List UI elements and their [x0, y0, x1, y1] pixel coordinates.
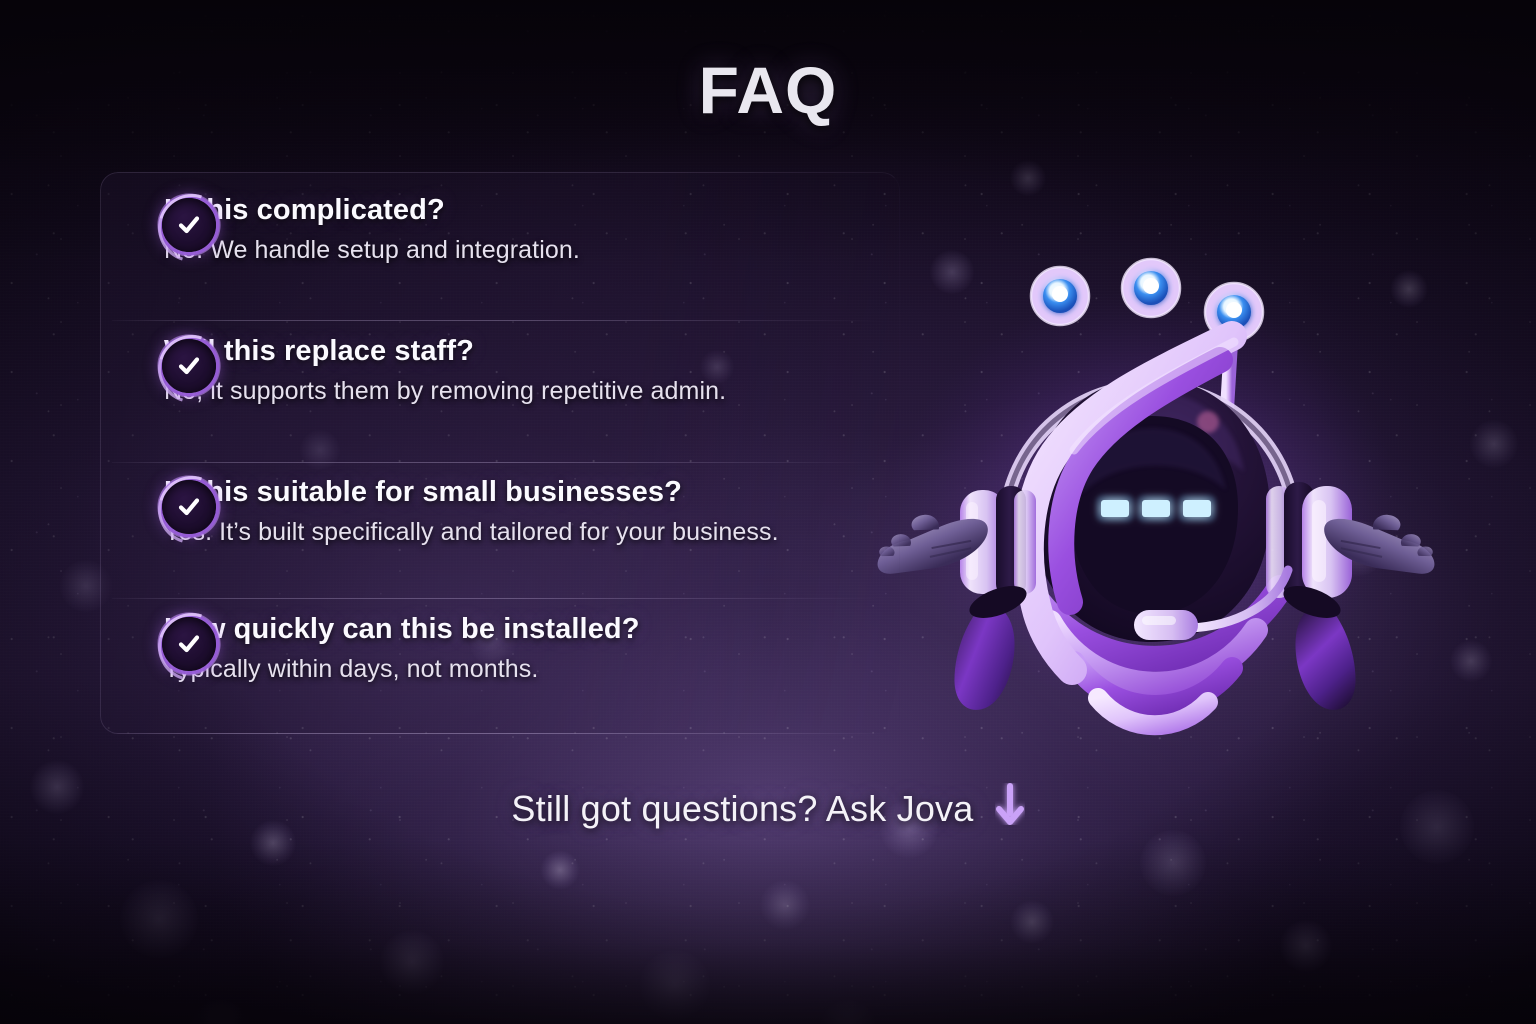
face-indicator-dashes-halo	[1096, 495, 1216, 522]
faq-item[interactable]: Is this suitable for small businesses? Y…	[100, 476, 940, 547]
faq-divider	[112, 320, 880, 321]
faq-divider	[112, 598, 880, 599]
faq-item[interactable]: How quickly can this be installed? Typic…	[100, 613, 940, 684]
faq-question: Is this complicated?	[164, 194, 940, 227]
faq-answer: Yes. It’s built specifically and tailore…	[164, 518, 940, 547]
cta-row[interactable]: Still got questions? Ask Jova	[0, 783, 1536, 830]
faq-item[interactable]: Will this replace staff? No, it supports…	[100, 335, 940, 406]
check-circle-icon	[162, 480, 216, 534]
check-circle-icon	[162, 339, 216, 393]
faq-question: Is this suitable for small businesses?	[164, 476, 940, 509]
arrow-down-icon[interactable]	[995, 783, 1025, 829]
faq-question: Will this replace staff?	[164, 335, 940, 368]
faq-question: How quickly can this be installed?	[164, 613, 940, 646]
faq-list: Is this complicated? No. We handle setup…	[100, 172, 940, 734]
faq-divider	[112, 733, 880, 734]
faq-divider	[112, 462, 880, 463]
faq-answer: No, it supports them by removing repetit…	[164, 377, 940, 406]
faq-answer: Typically within days, not months.	[164, 655, 940, 684]
faq-item[interactable]: Is this complicated? No. We handle setup…	[100, 194, 940, 265]
faq-answer: No. We handle setup and integration.	[164, 236, 940, 265]
check-circle-icon	[162, 617, 216, 671]
page-title: FAQ	[0, 52, 1536, 128]
cta-label: Still got questions? Ask Jova	[511, 788, 973, 829]
slide-canvas: FAQ	[0, 0, 1536, 1024]
check-circle-icon	[162, 198, 216, 252]
